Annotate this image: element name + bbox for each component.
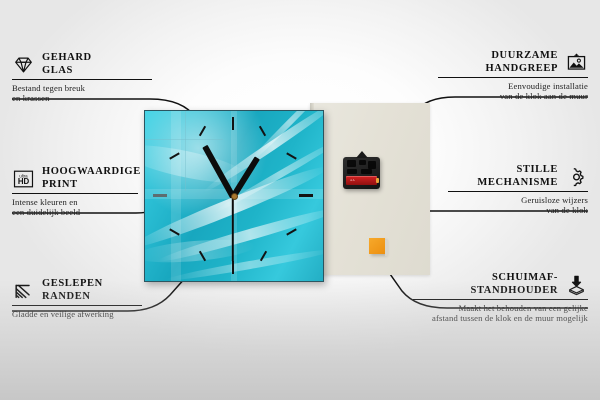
callout-rule	[438, 77, 588, 78]
callout-title-line1: STILLE	[477, 164, 558, 177]
callout-desc-line2: afstand tussen de klok en de muur mogeli…	[413, 313, 588, 323]
callout-title-line2: HANDGREEP	[486, 63, 559, 76]
callout-title-line2: MECHANISME	[477, 177, 558, 190]
svg-text:HD: HD	[18, 177, 30, 186]
callout-desc-line1: Geruisloze wijzers	[448, 195, 588, 205]
callout-title-line2: PRINT	[42, 179, 141, 192]
callout-rule	[413, 299, 588, 300]
clock-center-cap	[231, 193, 238, 200]
product-image: AA	[140, 100, 430, 285]
diamond-icon	[12, 54, 35, 76]
callout-title-line1: HOOGWAARDIGE	[42, 166, 141, 179]
callout-desc: Intense kleuren en een duidelijk beeld	[12, 197, 152, 218]
callout-desc-line1: Bestand tegen breuk	[12, 83, 162, 93]
gear-icon	[565, 166, 588, 188]
callout-title-line1: SCHUIMAF-	[471, 272, 559, 285]
callout-title-line1: GEHARD	[42, 52, 92, 65]
infographic-canvas: AA GEHARD GLAS Bestand tegen breuk en kr…	[0, 0, 600, 400]
clock-tick	[259, 126, 266, 137]
clock-tick	[286, 228, 297, 235]
clock-tick	[232, 117, 234, 130]
callout-title-line2: STANDHOUDER	[471, 285, 559, 298]
callout-stille-mechanisme[interactable]: STILLE MECHANISME Geruisloze wijzers van…	[448, 164, 588, 216]
callout-hoogwaardige-print[interactable]: ultra HD HOOGWAARDIGE PRINT Intense kleu…	[12, 166, 152, 218]
beveled-edges-icon	[12, 280, 35, 302]
picture-frame-icon	[565, 52, 588, 74]
wall-clock	[144, 110, 324, 282]
clock-tick	[299, 194, 313, 197]
callout-desc-line1: Eenvoudige installatie	[438, 81, 588, 91]
callout-title-line2: GLAS	[42, 65, 92, 78]
callout-desc: Maakt het behouden van een gelijke afsta…	[413, 303, 588, 324]
callout-title-line1: DUURZAME	[486, 50, 559, 63]
callout-title-line1: GESLEPEN	[42, 278, 103, 291]
callout-desc-line2: van de klok	[448, 205, 588, 215]
clock-tick	[199, 126, 206, 137]
callout-desc-line2: en krassen	[12, 93, 162, 103]
callout-desc-line1: Maakt het behouden van een gelijke	[413, 303, 588, 313]
callout-rule	[12, 79, 152, 80]
foam-spacer-icon	[565, 274, 588, 296]
callout-geslepen-randen[interactable]: GESLEPEN RANDEN Gladde en veilige afwerk…	[12, 278, 152, 319]
clock-battery: AA	[346, 176, 377, 185]
callout-desc: Eenvoudige installatie van de klok aan d…	[438, 81, 588, 102]
clock-tick	[232, 261, 234, 274]
callout-title-line2: RANDEN	[42, 291, 103, 304]
callout-desc-line2: van de klok aan de muur	[438, 91, 588, 101]
callout-desc: Bestand tegen breuk en krassen	[12, 83, 162, 104]
callout-rule	[12, 305, 142, 306]
callout-duurzame-handgreep[interactable]: DUURZAME HANDGREEP Eenvoudige installati…	[438, 50, 588, 102]
callout-desc: Gladde en veilige afwerking	[12, 309, 152, 319]
foam-spacer	[369, 238, 385, 254]
callout-schuimaf-standhouder[interactable]: SCHUIMAF- STANDHOUDER Maakt het behouden…	[413, 272, 588, 324]
callout-desc-line1: Intense kleuren en	[12, 197, 152, 207]
callout-gehard-glas[interactable]: GEHARD GLAS Bestand tegen breuk en krass…	[12, 52, 162, 104]
ultra-hd-icon: ultra HD	[12, 168, 35, 190]
clock-mechanism: AA	[343, 157, 380, 189]
callout-rule	[448, 191, 588, 192]
callout-desc-line1: Gladde en veilige afwerking	[12, 309, 152, 319]
callout-desc-line2: een duidelijk beeld	[12, 207, 152, 217]
callout-rule	[12, 193, 138, 194]
clock-second-hand	[232, 196, 234, 262]
clock-tick	[153, 194, 167, 197]
callout-desc: Geruisloze wijzers van de klok	[448, 195, 588, 216]
clock-tick	[286, 152, 297, 159]
battery-label: AA	[350, 178, 355, 182]
